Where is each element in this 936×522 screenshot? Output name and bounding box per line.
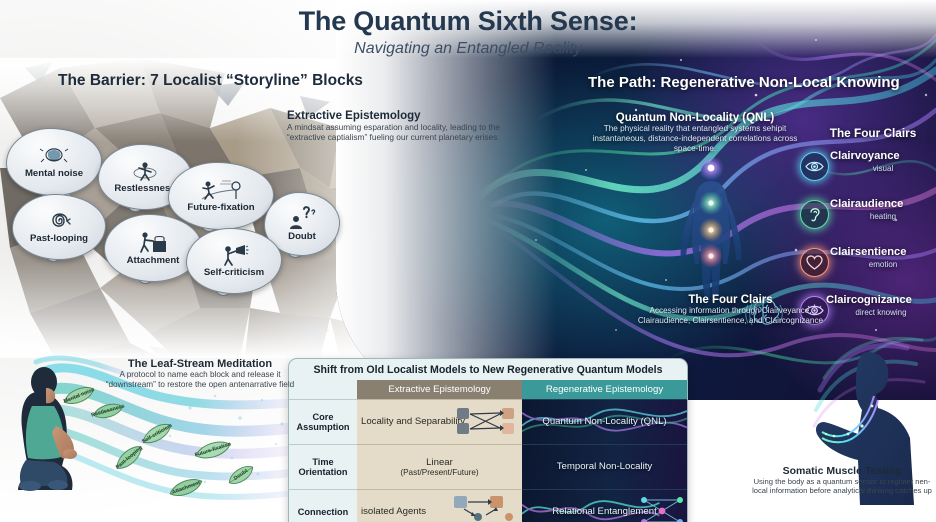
table-cell-extractive: Locality and Separability (357, 399, 522, 444)
table-row-label: Connection (289, 489, 357, 522)
poster-title-block: The Quantum Sixth Sense: Navigating an E… (0, 6, 936, 58)
table-title: Shift from Old Localist Models to New Re… (289, 359, 687, 380)
annotation-somatic-muscle-testing: Somatic Muscle Testing Using the body as… (752, 465, 932, 496)
block-label: Restlessness (114, 183, 175, 194)
quantum-left-fade (336, 0, 556, 400)
cell-text-main: Linear (400, 457, 478, 468)
page-title: The Quantum Sixth Sense: (0, 6, 936, 37)
annotation-body: Using the body as a quantum sensor to re… (752, 477, 932, 496)
infographic-poster: The Quantum Sixth Sense: Navigating an E… (0, 0, 936, 522)
clair-item-clairvoyance[interactable]: Clairvoyance visual (800, 148, 936, 196)
cell-text: Locality and Separability (361, 416, 465, 427)
pacing-figure-icon (131, 160, 159, 182)
clair-item-clairsentience[interactable]: Clairsentience emotion (800, 244, 936, 292)
clair-sub: heating (830, 212, 936, 221)
annotation-heading: Quantum Non-Locality (QNL) (586, 112, 804, 124)
table-header-regenerative: Regenerative Epistemology (522, 380, 687, 399)
person-grasping-bag-icon (137, 230, 169, 254)
ear-icon (800, 200, 829, 229)
block-bubble-past-looping[interactable]: Past-looping (12, 194, 106, 260)
spiral-icon (45, 210, 73, 232)
block-bubble-mental-noise[interactable]: Mental noise (6, 128, 102, 196)
section-header-path: The Path: Regenerative Non-Local Knowing (588, 74, 900, 91)
section-header-barrier: The Barrier: 7 Localist “Storyline” Bloc… (58, 72, 363, 90)
eye-icon (800, 152, 829, 181)
annotation-heading: Extractive Epistemology (287, 110, 502, 122)
table-cell-extractive: isolated Agents (357, 489, 522, 522)
clair-name: Clairvoyance (830, 150, 936, 162)
clair-sub: emotion (830, 260, 936, 269)
table-row-label: Time Orientation (289, 444, 357, 489)
separated-agents-icon (452, 494, 518, 522)
annotation-extractive-epistemology: Extractive Epistemology A mindsat assumi… (287, 110, 502, 142)
annotation-body: The physical reality that entangled syst… (586, 124, 804, 154)
annotation-body: A protocol to name each block and releas… (100, 370, 300, 390)
clair-name: Clairaudience (830, 198, 936, 210)
block-bubble-future-fixation[interactable]: Future-fixation (168, 162, 274, 230)
clair-name: Claircognizance (826, 294, 936, 306)
table-header-extractive: Extractive Epistemology (357, 380, 522, 399)
block-label: Self-criticism (204, 267, 264, 278)
cell-text-sub: (Past/Present/Future) (400, 468, 478, 477)
cell-text: Quantum Non-Locality (QNL) (542, 416, 666, 427)
clair-name: Clairsentience (830, 246, 936, 258)
clair-item-clairaudience[interactable]: Clairaudience heating (800, 196, 936, 244)
running-to-goal-icon (200, 179, 242, 201)
comparison-table: Shift from Old Localist Models to New Re… (288, 358, 688, 522)
four-clairs-title: The Four Clairs (810, 126, 936, 140)
chakra-body-figure (676, 158, 746, 308)
scribble-cloud-icon (39, 145, 69, 167)
table-cell-regenerative: Quantum Non-Locality (QNL) (522, 399, 687, 444)
table-row-label: Core Assumption (289, 399, 357, 444)
annotation-heading: Somatic Muscle Testing (752, 465, 932, 477)
person-megaphone-icon (219, 244, 249, 266)
block-label: Doubt (288, 231, 316, 242)
annotation-body: Accessing information through Clairveyan… (628, 306, 833, 326)
cell-text: isolated Agents (361, 506, 426, 517)
network-nodes-icon (638, 494, 684, 522)
question-mark-person-icon (287, 206, 317, 230)
page-subtitle: Navigating an Entangled Reality (0, 40, 936, 58)
block-label: Attachment (127, 255, 180, 266)
block-label: Future-fixation (187, 202, 254, 213)
annotation-four-clairs-description: The Four Clairs Accessing information th… (628, 294, 833, 326)
block-label: Past-looping (30, 233, 88, 244)
table-grid: Extractive Epistemology Regenerative Epi… (289, 380, 687, 522)
cell-text: Temporal Non-Locality (557, 461, 652, 472)
clair-sub: direct knowing (826, 308, 936, 317)
annotation-heading: The Four Clairs (628, 294, 833, 306)
block-bubble-self-criticism[interactable]: Self-criticism (186, 228, 282, 294)
annotation-heading: The Leaf-Stream Meditation (100, 358, 300, 370)
annotation-quantum-non-locality: Quantum Non-Locality (QNL) The physical … (586, 112, 804, 154)
table-cell-extractive: Linear (Past/Present/Future) (357, 444, 522, 489)
annotation-leaf-stream-meditation: The Leaf-Stream Meditation A protocol to… (100, 358, 300, 390)
block-label: Mental noise (25, 168, 83, 179)
crossed-arrows-squares-icon (456, 406, 516, 436)
heart-icon (800, 248, 829, 277)
clair-sub: visual (830, 164, 936, 173)
annotation-body: A mindsat assuming esparation and locali… (287, 122, 502, 142)
cell-text: Linear (Past/Present/Future) (400, 457, 478, 477)
table-cell-regenerative: Temporal Non-Locality (522, 444, 687, 489)
table-cell-regenerative: Relational Entanglement (522, 489, 687, 522)
